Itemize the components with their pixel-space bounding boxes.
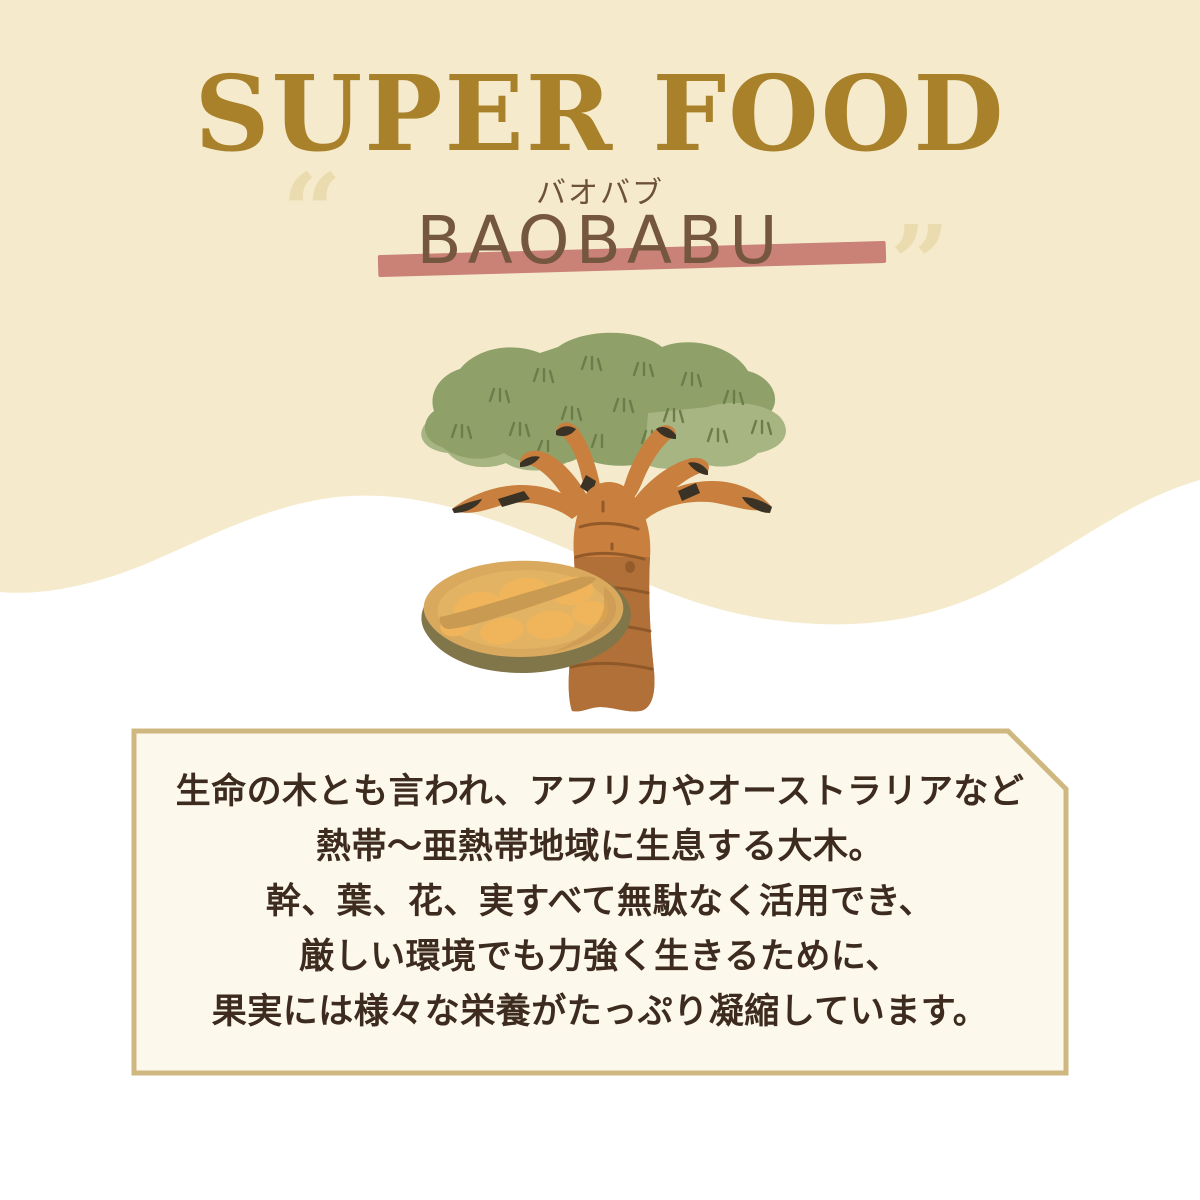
poster-canvas: “ ” SUPER FOOD バオバブ BAOBABU — [0, 0, 1200, 1200]
tree-canopy-icon — [421, 333, 786, 471]
description-box: 生命の木とも言われ、アフリカやオーストラリアなど 熱帯〜亜熱帯地域に生息する大木… — [130, 727, 1070, 1077]
description-line-5: 果実には様々な栄養がたっぷり凝縮しています。 — [212, 985, 988, 1040]
subtitle-romaji: BAOBABU — [0, 202, 1200, 279]
description-text: 生命の木とも言われ、アフリカやオーストラリアなど 熱帯〜亜熱帯地域に生息する大木… — [130, 727, 1070, 1077]
description-line-2: 熱帯〜亜熱帯地域に生息する大木。 — [316, 820, 884, 875]
description-line-1: 生命の木とも言われ、アフリカやオーストラリアなど — [176, 765, 1025, 820]
description-line-3: 幹、葉、花、実すべて無駄なく活用でき、 — [266, 875, 934, 930]
baobab-illustration — [390, 295, 820, 735]
page-title: SUPER FOOD — [0, 60, 1200, 168]
description-line-4: 厳しい環境でも力強く生きるために、 — [299, 930, 901, 985]
